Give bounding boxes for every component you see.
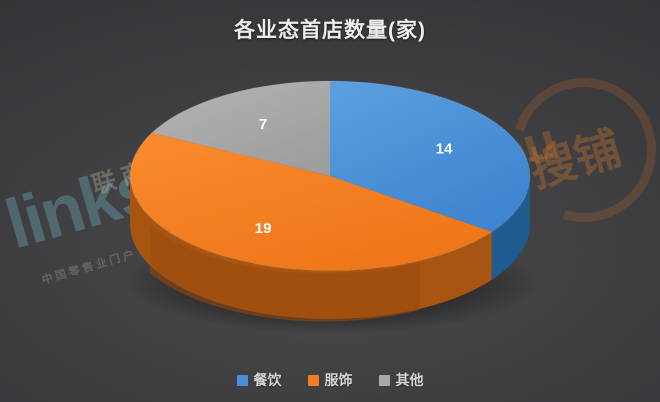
legend-item-fushi[interactable]: 服饰 [308, 370, 353, 390]
legend-swatch-icon-canyin [237, 375, 248, 386]
chart-legend: 餐饮 服饰 其他 [0, 370, 660, 390]
legend-swatch-icon-qita [379, 375, 390, 386]
legend-item-canyin[interactable]: 餐饮 [237, 370, 282, 390]
legend-label-canyin: 餐饮 [254, 370, 282, 390]
legend-label-fushi: 服饰 [325, 370, 353, 390]
legend-label-qita: 其他 [396, 370, 424, 390]
legend-swatch-icon-fushi [308, 375, 319, 386]
pie-chart-figure: linkshop 联商网 中国零售业门户 soupu 搜铺 .com 各业态首店… [0, 0, 660, 402]
pie-svg: 14 19 7 [0, 0, 660, 402]
slice-value-canyin: 14 [436, 140, 453, 157]
slice-value-fushi: 19 [255, 220, 272, 237]
slice-value-qita: 7 [259, 116, 267, 133]
legend-item-qita[interactable]: 其他 [379, 370, 424, 390]
